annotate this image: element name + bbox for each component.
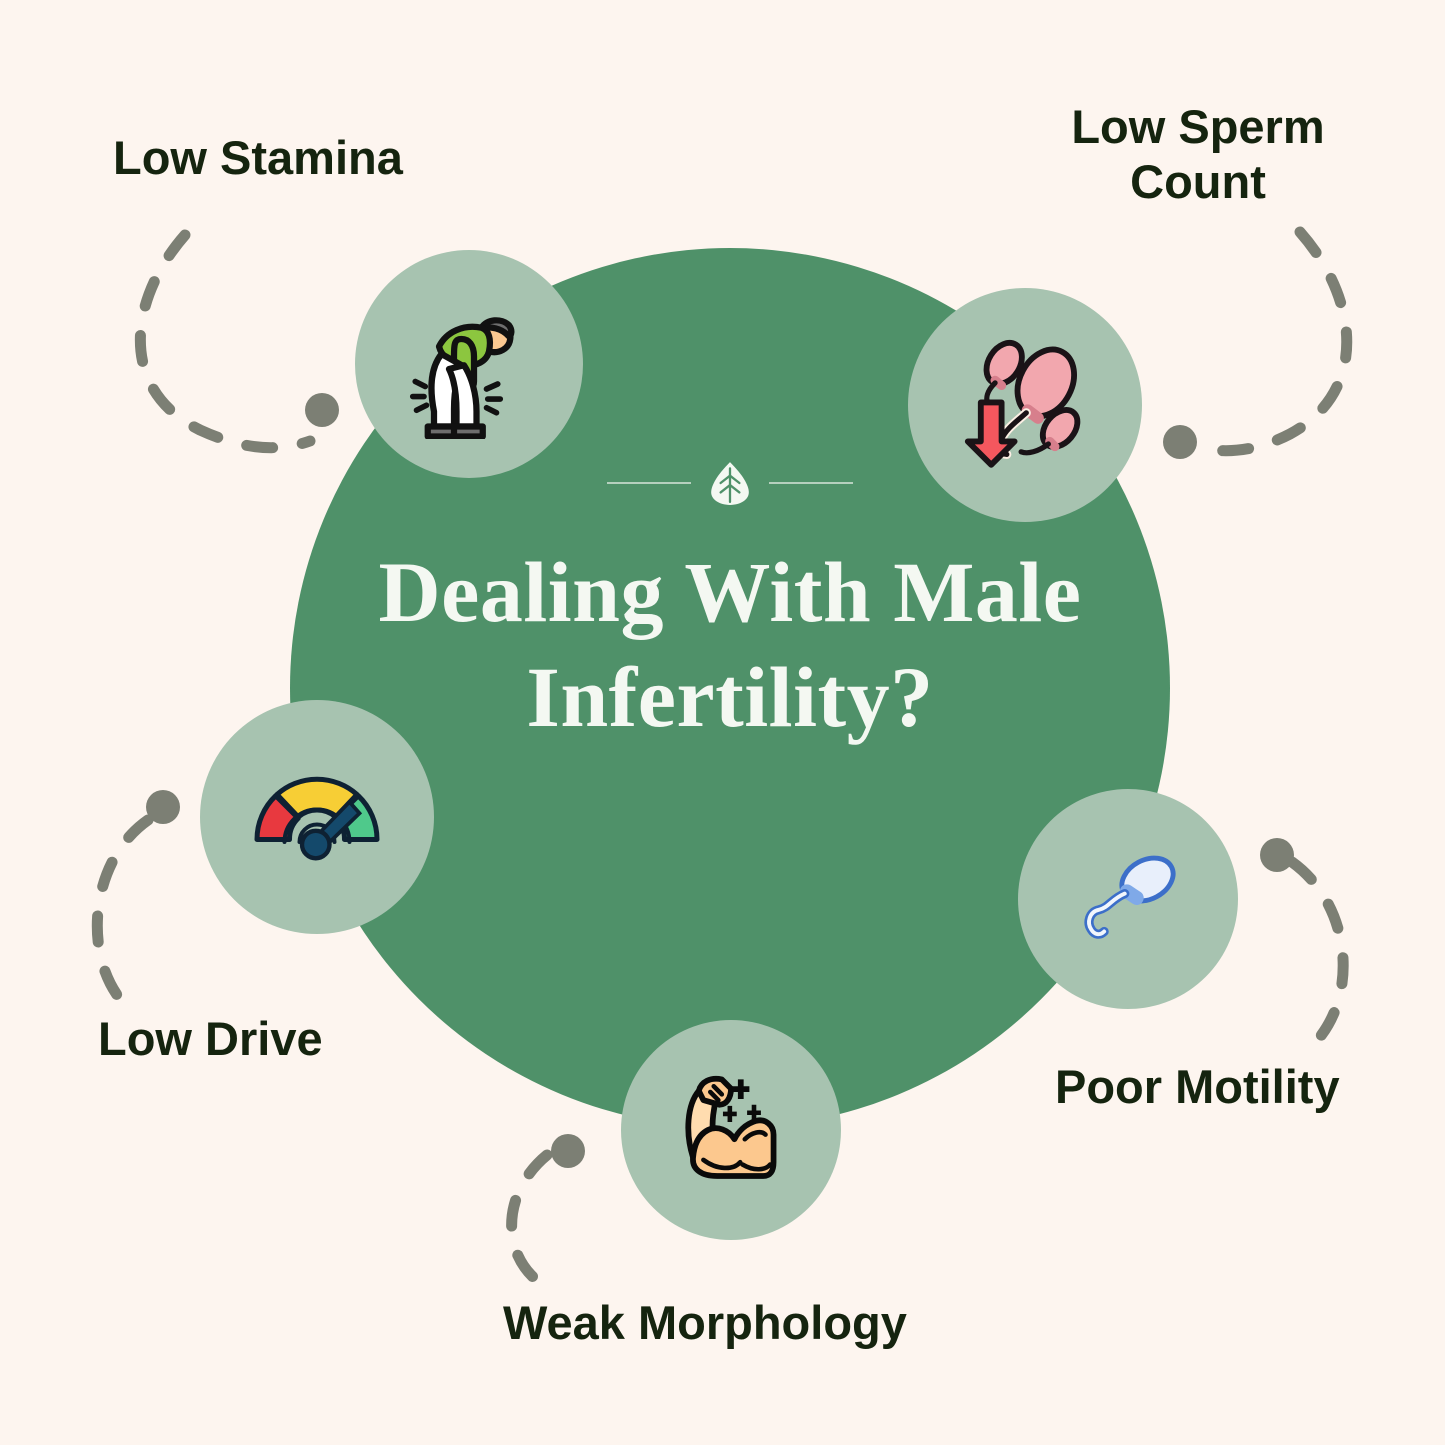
connector-dot-stamina — [305, 393, 339, 427]
single-sperm-icon — [1063, 834, 1193, 964]
label-low-stamina: Low Stamina — [113, 131, 403, 186]
connector-dot-sperm-count — [1163, 425, 1197, 459]
divider-rule-right — [769, 482, 853, 484]
connector-dot-morphology — [551, 1134, 585, 1168]
leaf-divider — [600, 460, 860, 506]
leaf-icon — [709, 460, 751, 506]
gauge-icon — [242, 742, 392, 892]
icon-bubble-sperm-count[interactable] — [908, 288, 1142, 522]
divider-rule-left — [607, 482, 691, 484]
infographic-poster: Dealing With Male Infertility? — [0, 0, 1445, 1445]
label-low-sperm-count: Low Sperm Count — [1048, 100, 1348, 209]
icon-bubble-morphology[interactable] — [621, 1020, 841, 1240]
connector-stamina — [140, 235, 310, 448]
tired-man-icon — [394, 289, 544, 439]
icon-bubble-drive[interactable] — [200, 700, 434, 934]
connector-sperm-count — [1195, 232, 1347, 451]
connector-drive — [97, 820, 148, 1006]
icon-bubble-stamina[interactable] — [355, 250, 583, 478]
sperm-count-down-icon — [947, 327, 1103, 483]
connector-dot-drive — [146, 790, 180, 824]
page-title: Dealing With Male Infertility? — [350, 540, 1110, 750]
label-low-drive: Low Drive — [98, 1012, 323, 1067]
connector-morphology — [512, 1155, 556, 1292]
flexed-bicep-icon — [662, 1061, 800, 1199]
icon-bubble-motility[interactable] — [1018, 789, 1238, 1009]
label-poor-motility: Poor Motility — [1055, 1060, 1340, 1115]
connector-motility — [1292, 862, 1343, 1046]
connector-dot-motility — [1260, 838, 1294, 872]
label-weak-morphology: Weak Morphology — [503, 1296, 907, 1351]
